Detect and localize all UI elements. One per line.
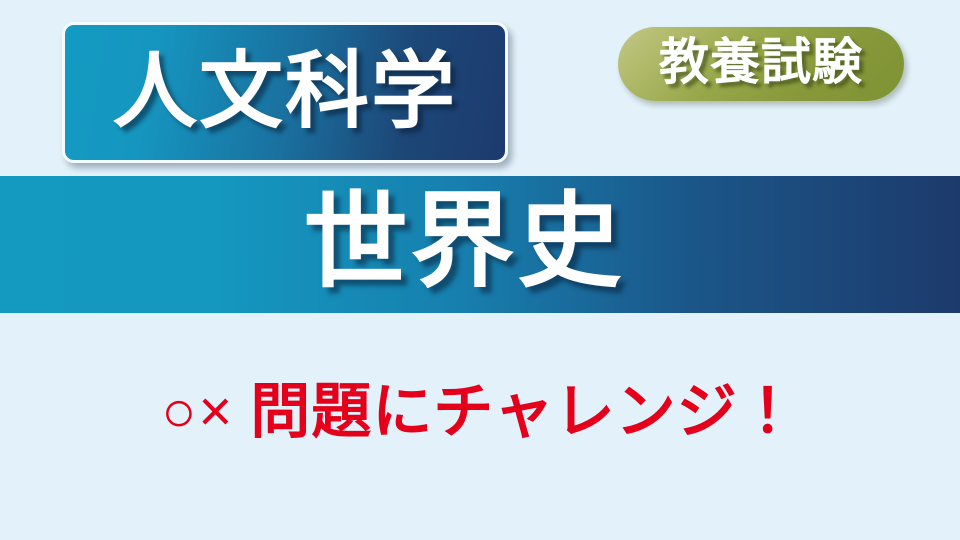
call-to-action-label: 問題にチャレンジ！ bbox=[250, 382, 798, 442]
subject-band-label: 世界史 bbox=[303, 190, 624, 294]
slide-canvas: 人文科学 教養試験 世界史 ○× 問題にチャレンジ！ bbox=[0, 0, 960, 540]
exam-type-pill: 教養試験 bbox=[618, 27, 904, 101]
exam-type-pill-label: 教養試験 bbox=[659, 37, 863, 87]
subject-band: 世界史 bbox=[0, 176, 960, 313]
category-badge: 人文科学 bbox=[62, 22, 508, 163]
category-badge-label: 人文科学 bbox=[113, 49, 457, 133]
true-false-symbols: ○× bbox=[161, 383, 234, 441]
call-to-action-row: ○× 問題にチャレンジ！ bbox=[0, 372, 960, 452]
